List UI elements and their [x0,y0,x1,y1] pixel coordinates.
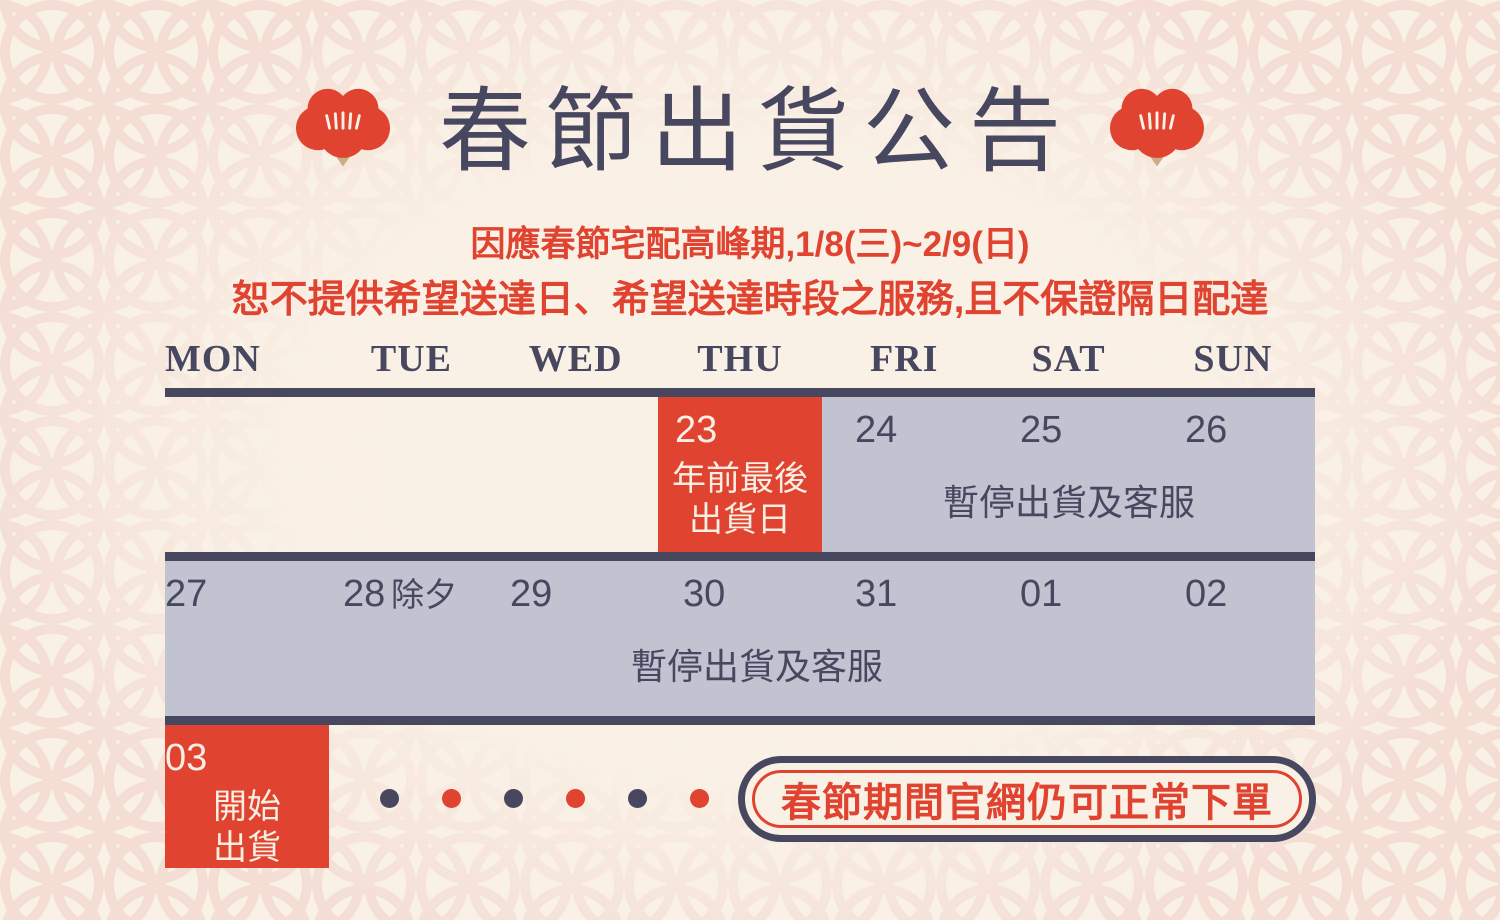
calendar-rule-mid-2 [165,716,1315,725]
dot-icon [380,789,399,808]
subtitle-line-2: 恕不提供希望送達日、希望送達時段之服務,且不保證隔日配達 [0,268,1500,323]
calendar-rule-mid-1 [165,552,1315,561]
day-number-29: 29 [510,575,552,613]
dot-icon [628,789,647,808]
weekday-wed: WED [494,336,658,382]
dot-icon [442,789,461,808]
suspended-label-row2: 暫停出貨及客服 [631,638,883,690]
page-header: 春節出貨公告 [0,72,1500,192]
plum-blossom-icon [295,84,391,180]
calendar-row-2: 27 28 除夕 29 30 31 01 02 暫停出貨及客服 [165,561,1315,716]
day-number-23: 23 [675,411,717,449]
dot-icon [690,789,709,808]
weekday-fri: FRI [822,336,986,382]
day-note-chuxi: 除夕 [391,578,457,611]
highlight-23-line1: 年前最後 [658,459,822,500]
pill-label: 春節期間官網仍可正常下單 [781,770,1273,828]
weekday-mon: MON [165,336,329,382]
highlight-23-line2: 出貨日 [658,500,822,541]
weekday-sat: SAT [986,336,1150,382]
weekday-thu: THU [658,336,822,382]
highlight-cell-03-label: 開始 出貨 [165,787,329,870]
day-number-01: 01 [1020,575,1062,613]
weekday-sun: SUN [1151,336,1315,382]
day-number-30: 30 [683,575,725,613]
weekday-tue: TUE [329,336,493,382]
day-number-26: 26 [1185,411,1227,449]
decorative-dot-row [380,789,700,809]
day-number-28: 28 [343,575,385,613]
day-number-03: 03 [165,739,207,777]
dot-icon [566,789,585,808]
dot-icon [504,789,523,808]
highlight-03-line1: 開始 [165,787,329,828]
pill-inner-border: 春節期間官網仍可正常下單 [752,770,1302,828]
page-title: 春節出貨公告 [425,86,1075,178]
calendar-rule-top [165,388,1315,397]
plum-blossom-icon [1109,84,1205,180]
day-number-31: 31 [855,575,897,613]
highlight-03-line2: 出貨 [165,828,329,869]
day-number-27: 27 [165,575,207,613]
day-number-25: 25 [1020,411,1062,449]
highlight-cell-23-label: 年前最後 出貨日 [658,459,822,542]
online-order-notice-pill[interactable]: 春節期間官網仍可正常下單 [738,756,1316,842]
day-number-02: 02 [1185,575,1227,613]
suspended-label-row1: 暫停出貨及客服 [943,474,1195,526]
day-number-24: 24 [855,411,897,449]
calendar-row-1: 23 年前最後 出貨日 24 25 26 暫停出貨及客服 [165,397,1315,552]
calendar-weekday-header: MON TUE WED THU FRI SAT SUN [165,336,1315,382]
subtitle-line-1: 因應春節宅配高峰期,1/8(三)~2/9(日) [0,216,1500,267]
